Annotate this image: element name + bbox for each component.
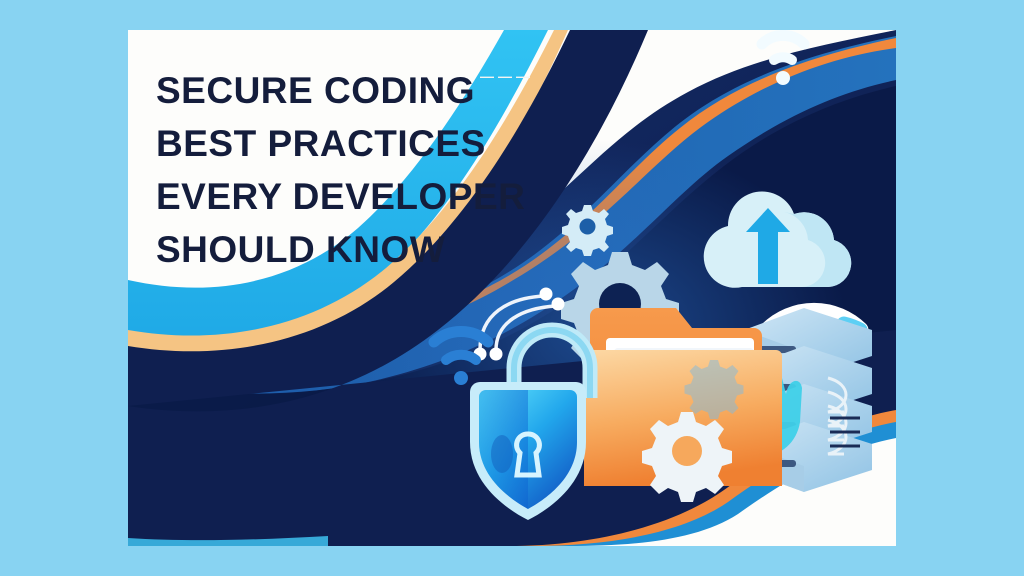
faint-mark: ——— (480, 68, 534, 84)
wifi-small-dot (776, 71, 790, 85)
wifi-small-icon (762, 35, 804, 60)
connector-dot (552, 298, 565, 311)
cloud-upload-icon (704, 191, 851, 287)
gear-tint-icon (685, 360, 744, 419)
page-title: SECURE CODING BEST PRACTICES EVERY DEVEL… (156, 64, 576, 276)
title-line-2: BEST PRACTICES (156, 117, 576, 170)
connector-dot (540, 288, 553, 301)
poster-root: ——— SECURE CODING BEST PRACTICES EVERY D… (0, 0, 1024, 576)
title-line-3: EVERY DEVELOPER (156, 170, 576, 223)
connector-dot (490, 348, 503, 361)
padlock-shield-icon (470, 330, 590, 520)
wifi-left-dot (454, 371, 468, 385)
poster-card: ——— SECURE CODING BEST PRACTICES EVERY D… (128, 30, 896, 546)
gear-white-icon (642, 412, 732, 502)
title-line-4: SHOULD KNOW (156, 223, 576, 276)
